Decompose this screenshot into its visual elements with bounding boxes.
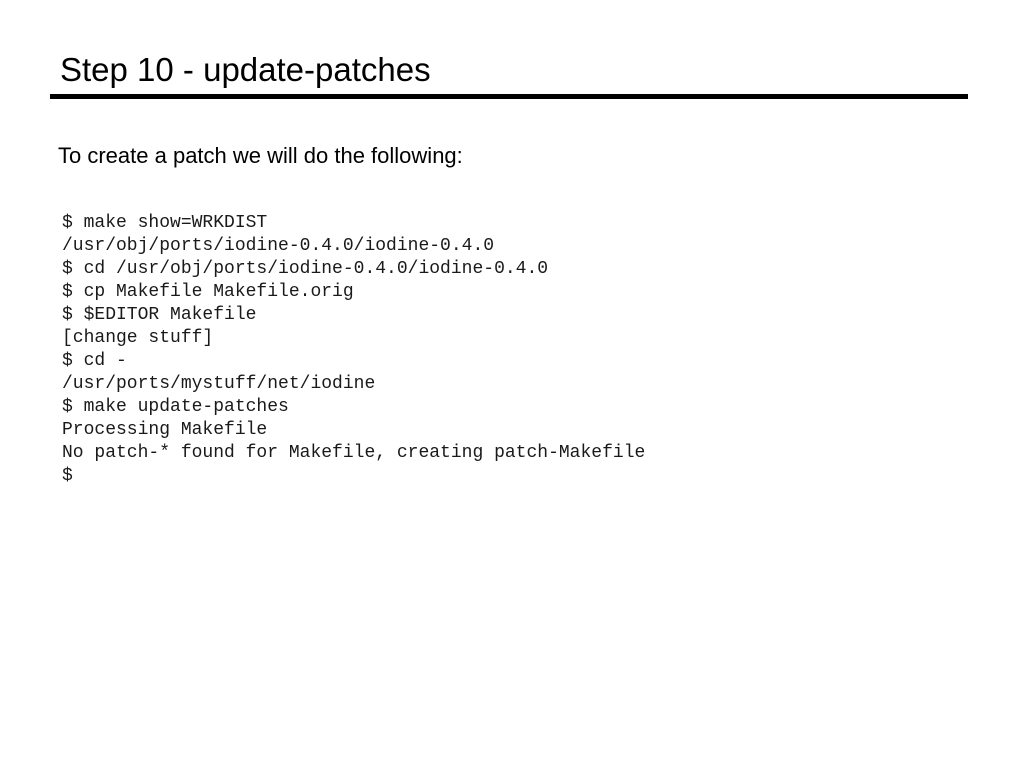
code-line: $ make update-patches	[62, 396, 645, 419]
code-line: $ make show=WRKDIST	[62, 212, 645, 235]
code-line: $ $EDITOR Makefile	[62, 304, 645, 327]
page-title: Step 10 - update-patches	[60, 50, 431, 90]
slide-subtitle: To create a patch we will do the followi…	[58, 142, 463, 170]
code-line: No patch-* found for Makefile, creating …	[62, 442, 645, 465]
code-line: $ cd -	[62, 350, 645, 373]
code-line: /usr/ports/mystuff/net/iodine	[62, 373, 645, 396]
slide-root: Step 10 - update-patches To create a pat…	[0, 0, 1024, 768]
code-line: /usr/obj/ports/iodine-0.4.0/iodine-0.4.0	[62, 235, 645, 258]
title-underline-rule	[50, 94, 968, 99]
code-line: [change stuff]	[62, 327, 645, 350]
code-line: $ cd /usr/obj/ports/iodine-0.4.0/iodine-…	[62, 258, 645, 281]
code-line: $ cp Makefile Makefile.orig	[62, 281, 645, 304]
code-line: $	[62, 465, 645, 488]
terminal-transcript: $ make show=WRKDIST/usr/obj/ports/iodine…	[62, 212, 645, 488]
code-line: Processing Makefile	[62, 419, 645, 442]
